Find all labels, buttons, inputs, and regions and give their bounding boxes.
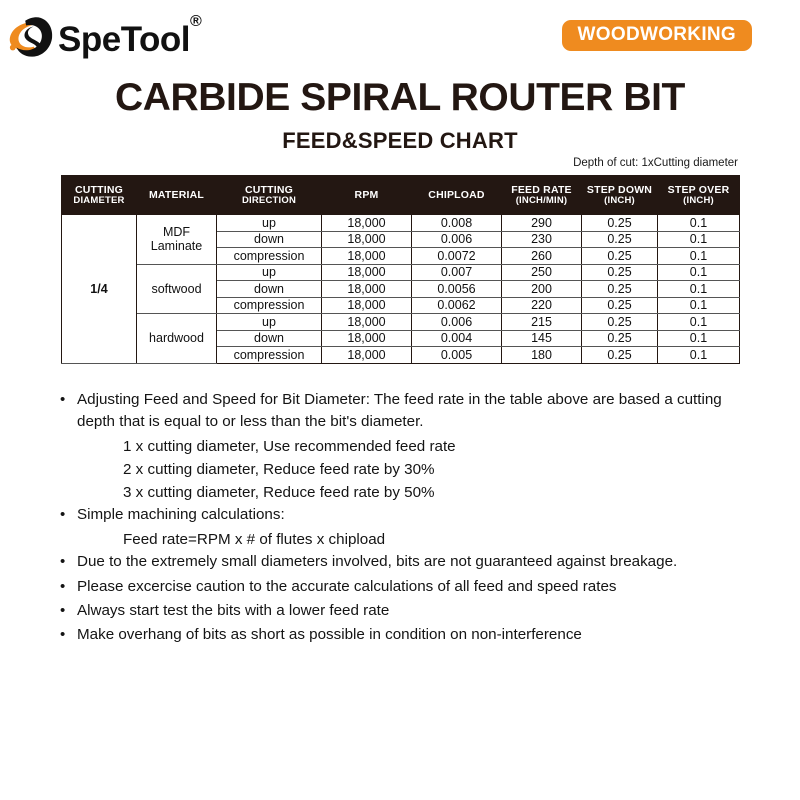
cell-direction: up — [217, 264, 322, 281]
cell-step-over: 0.1 — [658, 231, 740, 248]
cell-step-down: 0.25 — [582, 347, 658, 364]
bullet-glyph: • — [60, 551, 77, 573]
cell-step-down: 0.25 — [582, 330, 658, 347]
page-header: SpeTool® WOODWORKING — [0, 0, 800, 72]
table-row: hardwood up 18,000 0.006 215 0.25 0.1 — [62, 314, 740, 331]
page-title: CARBIDE SPIRAL ROUTER BIT — [0, 76, 800, 120]
cell-chipload: 0.005 — [412, 347, 502, 364]
cell-rpm: 18,000 — [322, 248, 412, 265]
table-row: softwood up 18,000 0.007 250 0.25 0.1 — [62, 264, 740, 281]
cell-step-down: 0.25 — [582, 248, 658, 265]
cell-step-down: 0.25 — [582, 281, 658, 298]
cell-material: softwood — [137, 264, 217, 314]
col-header-step-down: STEP DOWN(INCH) — [582, 176, 658, 215]
cell-chipload: 0.006 — [412, 231, 502, 248]
cell-chipload: 0.006 — [412, 314, 502, 331]
cell-chipload: 0.004 — [412, 330, 502, 347]
table-row: 1/4 MDFLaminate up 18,000 0.008 290 0.25… — [62, 215, 740, 232]
brand-logo: SpeTool® — [6, 14, 201, 60]
cell-feed-rate: 215 — [502, 314, 582, 331]
col-header-chipload: CHIPLOAD — [412, 176, 502, 215]
cell-rpm: 18,000 — [322, 314, 412, 331]
col-header-feed-rate: FEED RATE(INCH/MIN) — [502, 176, 582, 215]
table-header-row: CUTTINGDIAMETER MATERIAL CUTTINGDIRECTIO… — [62, 176, 740, 215]
cell-chipload: 0.008 — [412, 215, 502, 232]
note-text: Make overhang of bits as short as possib… — [77, 624, 760, 646]
cell-direction: compression — [217, 297, 322, 314]
note-text: Simple machining calculations: — [77, 504, 760, 526]
feed-speed-table: CUTTINGDIAMETER MATERIAL CUTTINGDIRECTIO… — [61, 175, 740, 364]
cell-direction: up — [217, 314, 322, 331]
depth-of-cut-note: Depth of cut: 1xCutting diameter — [573, 157, 738, 169]
cell-feed-rate: 260 — [502, 248, 582, 265]
note-text: Due to the extremely small diameters inv… — [77, 551, 760, 573]
cell-direction: up — [217, 215, 322, 232]
cell-chipload: 0.007 — [412, 264, 502, 281]
cell-direction: down — [217, 231, 322, 248]
woodworking-badge: WOODWORKING — [562, 20, 752, 51]
cell-chipload: 0.0056 — [412, 281, 502, 298]
col-header-cutting-direction: CUTTINGDIRECTION — [217, 176, 322, 215]
cell-direction: compression — [217, 248, 322, 265]
cell-feed-rate: 200 — [502, 281, 582, 298]
cell-direction: down — [217, 281, 322, 298]
cell-rpm: 18,000 — [322, 231, 412, 248]
cell-step-over: 0.1 — [658, 347, 740, 364]
cell-rpm: 18,000 — [322, 330, 412, 347]
cell-step-down: 0.25 — [582, 297, 658, 314]
note-item: • Due to the extremely small diameters i… — [60, 551, 760, 573]
cell-feed-rate: 250 — [502, 264, 582, 281]
page-subtitle: FEED&SPEED CHART — [0, 128, 800, 154]
note-text: Please excercise caution to the accurate… — [77, 576, 760, 598]
cell-feed-rate: 230 — [502, 231, 582, 248]
note-item: • Simple machining calculations: — [60, 504, 760, 526]
note-text: Adjusting Feed and Speed for Bit Diamete… — [77, 389, 760, 433]
cell-feed-rate: 290 — [502, 215, 582, 232]
bullet-glyph: • — [60, 624, 77, 646]
col-header-rpm: RPM — [322, 176, 412, 215]
cell-chipload: 0.0072 — [412, 248, 502, 265]
note-sub-item: 2 x cutting diameter, Reduce feed rate b… — [123, 458, 760, 481]
note-item: • Adjusting Feed and Speed for Bit Diame… — [60, 389, 760, 433]
note-item: • Always start test the bits with a lowe… — [60, 600, 760, 622]
cell-feed-rate: 220 — [502, 297, 582, 314]
bullet-glyph: • — [60, 576, 77, 598]
note-text: Always start test the bits with a lower … — [77, 600, 760, 622]
note-sub-item: Feed rate=RPM x # of flutes x chipload — [123, 528, 760, 551]
cell-chipload: 0.0062 — [412, 297, 502, 314]
cell-rpm: 18,000 — [322, 297, 412, 314]
note-item: • Make overhang of bits as short as poss… — [60, 624, 760, 646]
cell-step-over: 0.1 — [658, 330, 740, 347]
cell-step-down: 0.25 — [582, 314, 658, 331]
cell-step-over: 0.1 — [658, 297, 740, 314]
cell-direction: down — [217, 330, 322, 347]
col-header-step-over: STEP OVER(INCH) — [658, 176, 740, 215]
registered-mark: ® — [190, 13, 201, 30]
cell-rpm: 18,000 — [322, 281, 412, 298]
cell-material: MDFLaminate — [137, 215, 217, 265]
cell-step-over: 0.1 — [658, 248, 740, 265]
cell-step-over: 0.1 — [658, 264, 740, 281]
cell-rpm: 18,000 — [322, 264, 412, 281]
col-header-material: MATERIAL — [137, 176, 217, 215]
cell-step-down: 0.25 — [582, 264, 658, 281]
note-sub-item: 1 x cutting diameter, Use recommended fe… — [123, 435, 760, 458]
cell-step-down: 0.25 — [582, 231, 658, 248]
cell-step-over: 0.1 — [658, 314, 740, 331]
bullet-glyph: • — [60, 600, 77, 622]
note-sub-item: 3 x cutting diameter, Reduce feed rate b… — [123, 481, 760, 504]
cell-direction: compression — [217, 347, 322, 364]
brand-name: SpeTool® — [58, 22, 201, 57]
cell-rpm: 18,000 — [322, 215, 412, 232]
spetool-swirl-logo-icon — [6, 14, 54, 60]
col-header-cutting-diameter: CUTTINGDIAMETER — [62, 176, 137, 215]
bullet-glyph: • — [60, 504, 77, 526]
note-item: • Please excercise caution to the accura… — [60, 576, 760, 598]
cell-material: hardwood — [137, 314, 217, 364]
notes-section: • Adjusting Feed and Speed for Bit Diame… — [60, 389, 760, 648]
cell-cutting-diameter: 1/4 — [62, 215, 137, 364]
bullet-glyph: • — [60, 389, 77, 411]
cell-rpm: 18,000 — [322, 347, 412, 364]
cell-step-over: 0.1 — [658, 281, 740, 298]
cell-step-over: 0.1 — [658, 215, 740, 232]
cell-step-down: 0.25 — [582, 215, 658, 232]
cell-feed-rate: 145 — [502, 330, 582, 347]
cell-feed-rate: 180 — [502, 347, 582, 364]
